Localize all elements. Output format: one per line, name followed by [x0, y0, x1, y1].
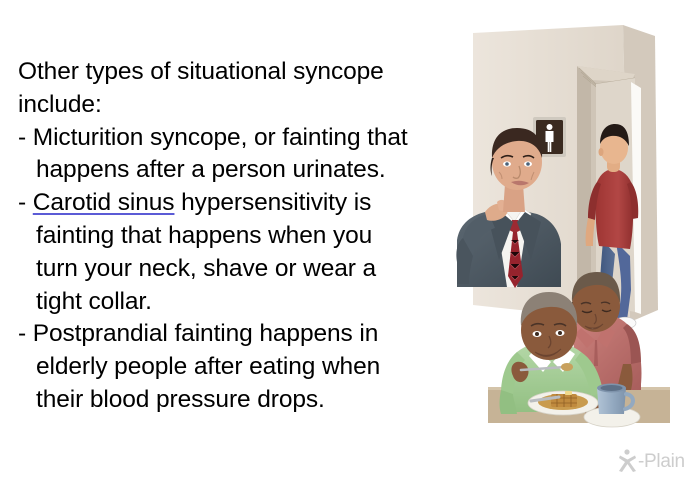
doorway-left-jamb — [577, 66, 591, 302]
logo-text: -Plain — [638, 452, 685, 471]
entering-man-shirt — [596, 169, 633, 249]
bullet-carotid-line-4: tight collar. — [18, 286, 450, 319]
bullet-carotid-line-1: - Carotid sinus hypersensitivity is — [18, 187, 450, 220]
butter-pat — [565, 391, 572, 395]
food-on-fork — [561, 363, 573, 371]
x-plain-figure-mark — [618, 449, 637, 473]
syncope-illustration — [455, 22, 700, 442]
mug-opening — [601, 385, 623, 391]
entering-man-ear — [599, 148, 604, 156]
bullet-micturition-line-2: happens after a person urinates. — [18, 154, 450, 187]
slide-body-text: Other types of situational syncope inclu… — [18, 56, 450, 417]
text-line-2: include: — [18, 89, 450, 122]
bullet-dash: - — [18, 189, 33, 216]
plate-with-waffle — [528, 391, 598, 415]
bullet-postprandial-line-3: their blood pressure drops. — [18, 384, 450, 417]
carotid-line-rest: hypersensitivity is — [174, 189, 371, 216]
carotid-sinus-link[interactable]: Carotid sinus — [33, 189, 175, 216]
bullet-micturition-line-1: - Micturition syncope, or fainting that — [18, 122, 450, 155]
bullet-postprandial-line-1: - Postprandial fainting happens in — [18, 318, 450, 351]
bullet-carotid-line-2: fainting that happens when you — [18, 220, 450, 253]
bullet-carotid-line-3: turn your neck, shave or wear a — [18, 253, 450, 286]
x-plain-logo: -Plain — [618, 447, 690, 475]
text-line-1: Other types of situational syncope — [18, 56, 450, 89]
bullet-postprandial-line-2: elderly people after eating when — [18, 351, 450, 384]
